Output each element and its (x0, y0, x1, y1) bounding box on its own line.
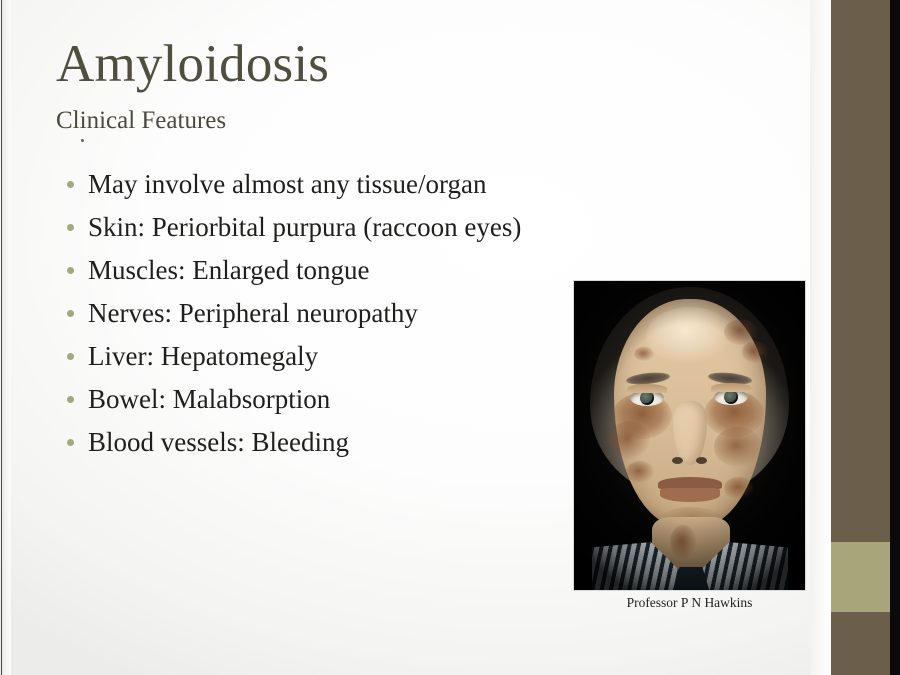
stray-bullet-dot (81, 139, 84, 142)
right-sidebar-khaki-block (831, 542, 890, 612)
clinical-photo (574, 281, 805, 590)
bullet-dot-icon (67, 396, 74, 403)
list-item-label: Nerves: Peripheral neuropathy (88, 292, 418, 335)
left-edge-line (1, 0, 2, 675)
clinical-photo-figure: Professor P N Hawkins (574, 281, 805, 612)
list-item-label: Blood vessels: Bleeding (88, 421, 349, 464)
photo-vignette (574, 281, 805, 590)
list-item-label: Liver: Hepatomegaly (88, 335, 318, 378)
bullet-dot-icon (67, 181, 74, 188)
list-item-label: Muscles: Enlarged tongue (88, 249, 369, 292)
bullet-dot-icon (67, 224, 74, 231)
bullet-dot-icon (67, 310, 74, 317)
bullet-dot-icon (67, 353, 74, 360)
page-subtitle: Clinical Features (56, 106, 226, 136)
page-title: Amyloidosis (56, 34, 329, 94)
list-item-label: May involve almost any tissue/organ (88, 163, 486, 206)
right-gutter (810, 0, 831, 675)
right-edge-black-strip (890, 0, 900, 675)
list-item-label: Bowel: Malabsorption (88, 378, 330, 421)
bullet-dot-icon (67, 439, 74, 446)
list-item-label: Skin: Periorbital purpura (raccoon eyes) (88, 206, 521, 249)
bullet-dot-icon (67, 267, 74, 274)
left-edge-gradient (2, 0, 11, 675)
list-item: Skin: Periorbital purpura (raccoon eyes) (60, 206, 700, 249)
photo-caption: Professor P N Hawkins (574, 594, 805, 612)
slide: Amyloidosis Clinical Features May involv… (0, 0, 900, 675)
list-item: May involve almost any tissue/organ (60, 163, 700, 206)
